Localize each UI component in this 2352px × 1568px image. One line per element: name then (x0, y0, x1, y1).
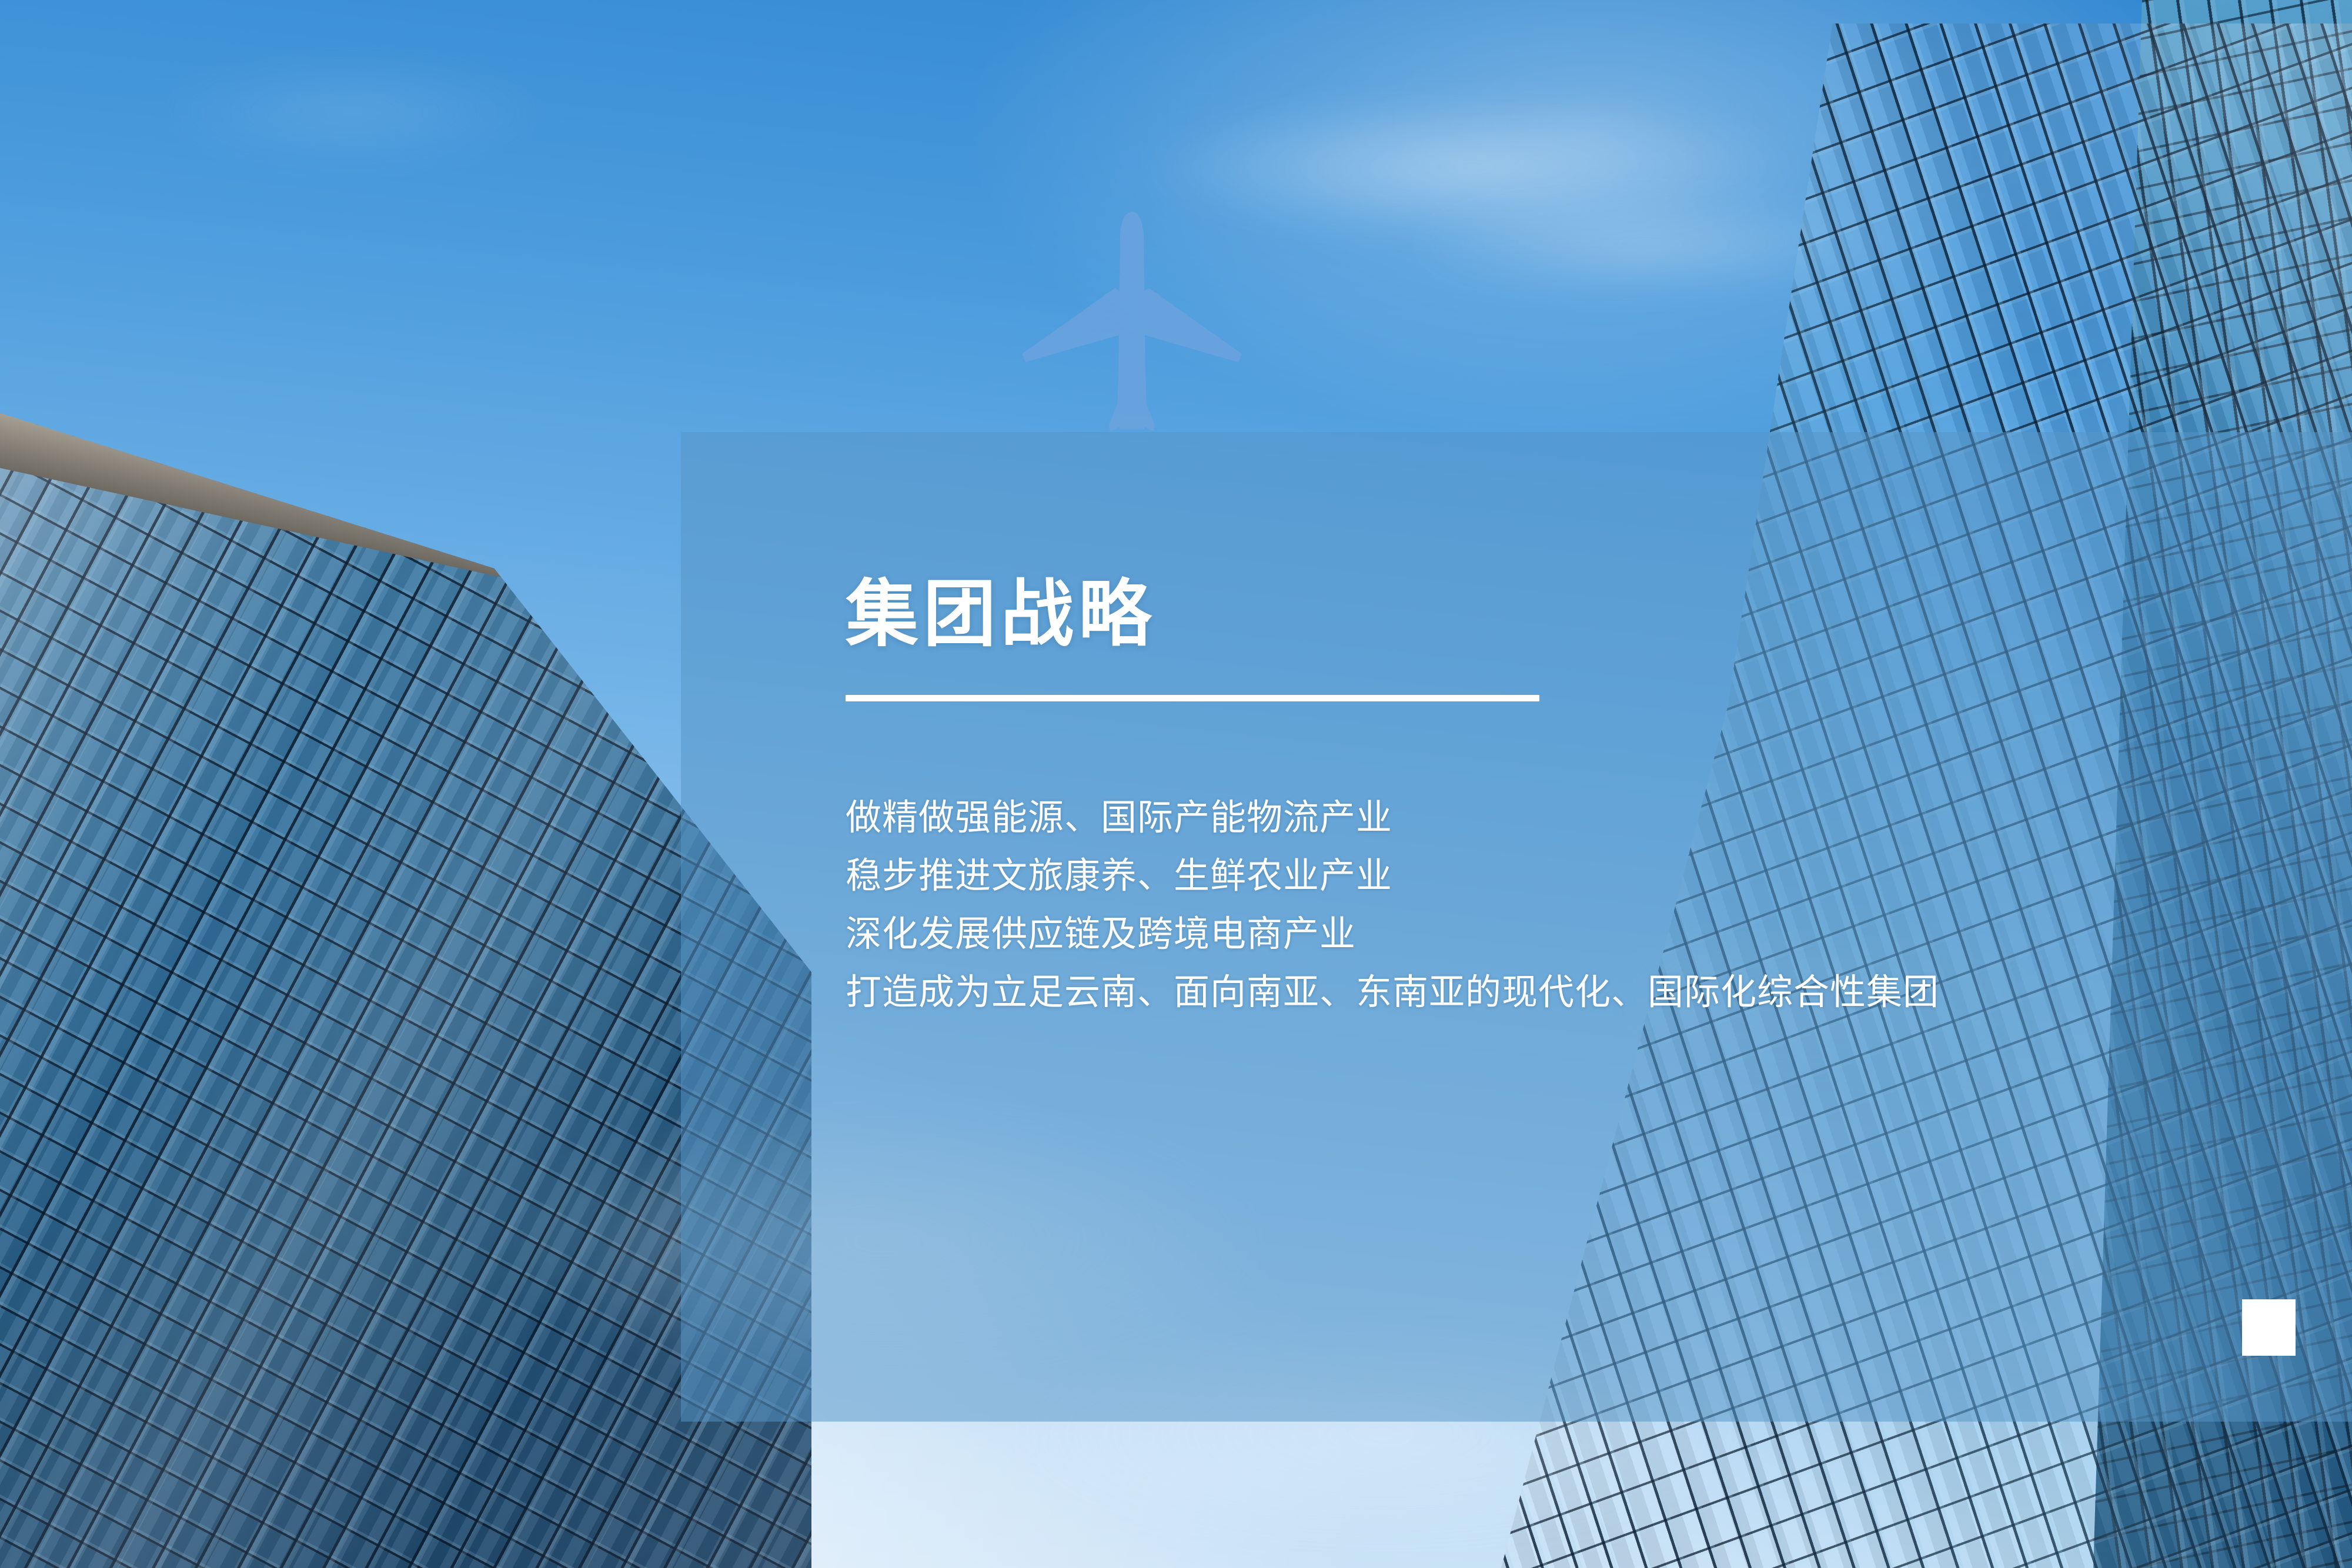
list-item: 打造成为立足云南、面向南亚、东南亚的现代化、国际化综合性集团 (846, 963, 2269, 1021)
list-item: 做精做强能源、国际产能物流产业 (846, 788, 2269, 847)
slide-content: 集团战略 做精做强能源、国际产能物流产业 稳步推进文旅康养、生鲜农业产业 深化发… (846, 576, 2269, 1021)
slide-canvas: 集团战略 做精做强能源、国际产能物流产业 稳步推进文旅康养、生鲜农业产业 深化发… (0, 0, 2352, 1568)
airplane-icon (1000, 194, 1264, 441)
page-title: 集团战略 (846, 576, 2269, 653)
accent-square-mark (2242, 1299, 2296, 1356)
list-item: 稳步推进文旅康养、生鲜农业产业 (846, 847, 2269, 905)
list-item: 深化发展供应链及跨境电商产业 (846, 905, 2269, 963)
title-divider (846, 695, 1539, 701)
strategy-list: 做精做强能源、国际产能物流产业 稳步推进文旅康养、生鲜农业产业 深化发展供应链及… (846, 788, 2269, 1021)
